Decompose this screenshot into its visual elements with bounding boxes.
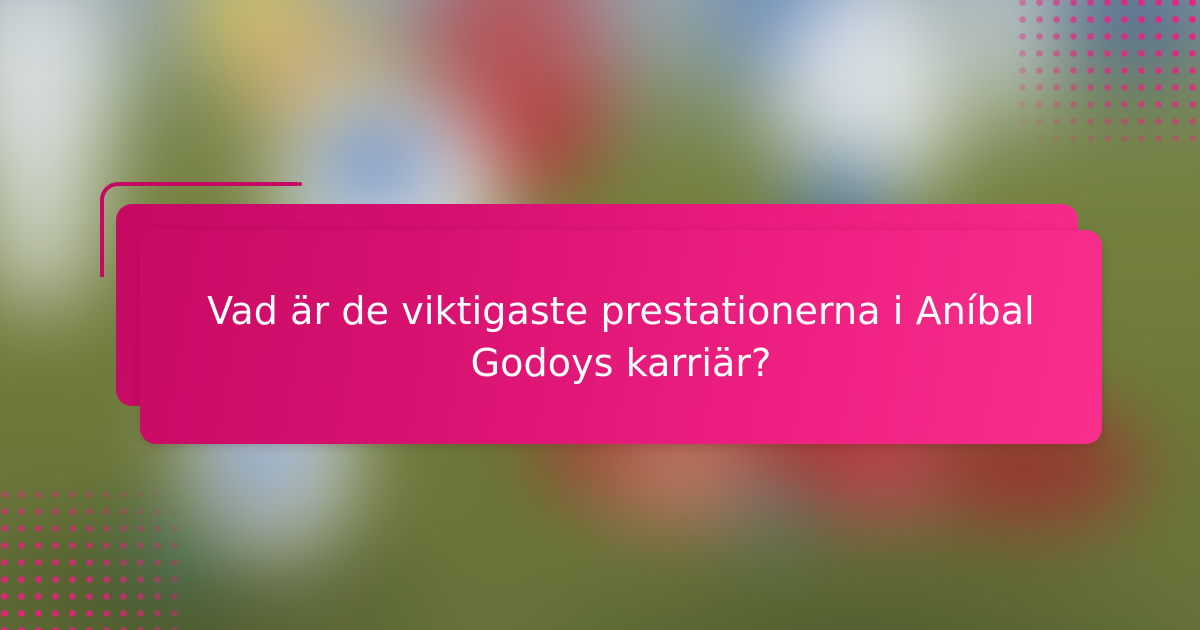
headline-card: Vad är de viktigaste prestationerna i An…: [140, 230, 1102, 444]
page-title: Vad är de viktigaste prestationerna i An…: [192, 285, 1050, 390]
headline-card-stack: Vad är de viktigaste prestationerna i An…: [100, 182, 1102, 446]
share-card-canvas: Vad är de viktigaste prestationerna i An…: [0, 0, 1200, 630]
